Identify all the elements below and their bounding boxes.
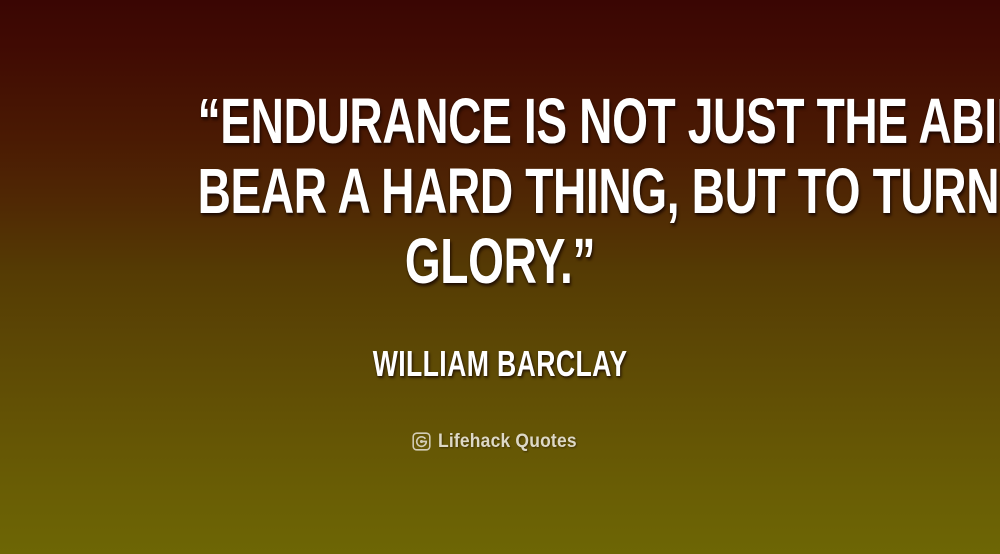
- quote-line-1: “ENDURANCE IS NOT JUST THE ABILITY TO: [198, 86, 803, 156]
- quote-line-2: BEAR A HARD THING, BUT TO TURN IT INTO: [198, 156, 803, 226]
- quote-card: “ENDURANCE IS NOT JUST THE ABILITY TO BE…: [0, 0, 1000, 554]
- brand-footer: Lifehack Quotes: [0, 432, 1000, 451]
- author-name: WILLIAM BARCLAY: [373, 344, 628, 384]
- quote-text: “ENDURANCE IS NOT JUST THE ABILITY TO BE…: [0, 86, 1000, 296]
- brand-label: Lifehack Quotes: [438, 432, 577, 451]
- quote-author: WILLIAM BARCLAY: [0, 344, 1000, 384]
- quote-line-3: GLORY.”: [198, 226, 803, 296]
- lifehack-logo-icon: [412, 432, 431, 451]
